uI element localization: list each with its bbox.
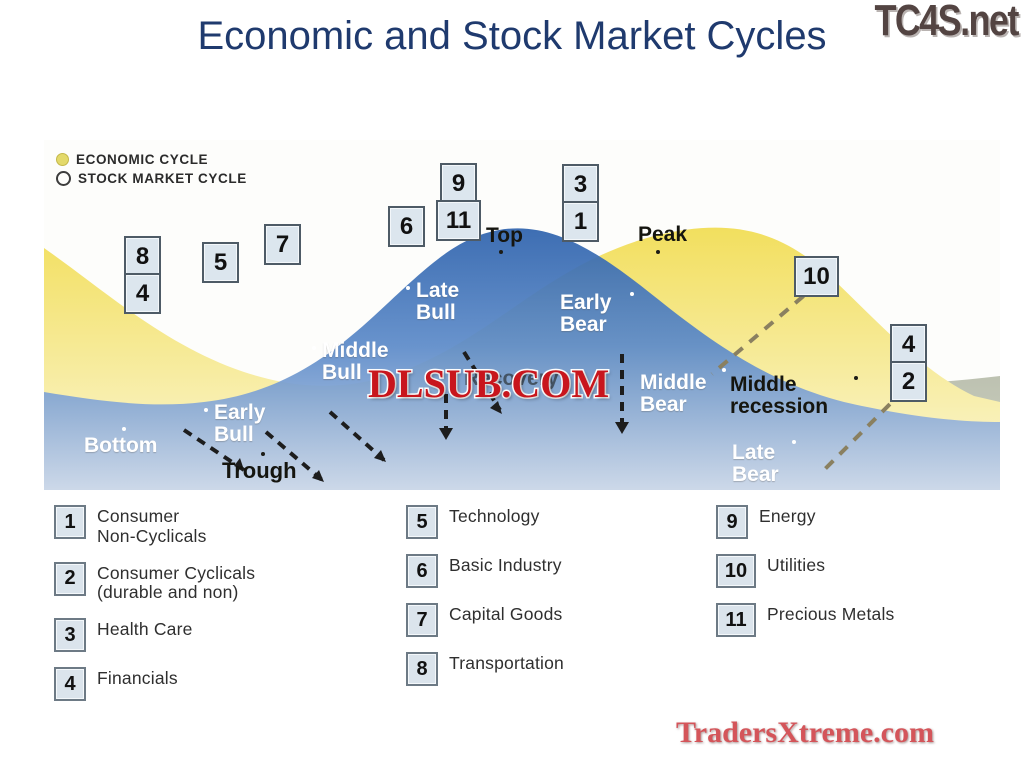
sector-label-1: Consumer Non-Cyclicals [97,505,207,547]
callout-box-2[interactable]: 2 [890,361,927,402]
annotation-early-bull: Early Bull [214,402,265,446]
legend-item-stock-market: STOCK MARKET CYCLE [56,171,247,186]
marker-dot-bottom [122,427,126,431]
sector-key-item-7[interactable]: 7 Capital Goods [406,603,564,637]
marker-dot-late-bull [406,286,410,290]
open-circle-icon [56,171,71,186]
sector-key-item-5[interactable]: 5 Technology [406,505,564,539]
chart-legend: ECONOMIC CYCLE STOCK MARKET CYCLE [56,152,247,190]
callout-box-3[interactable]: 3 [562,164,599,205]
sector-key-item-9[interactable]: 9 Energy [716,505,895,539]
annotation-late-bull: Late Bull [416,280,459,324]
sector-number-8: 8 [406,652,438,686]
sector-label-7: Capital Goods [449,603,563,625]
annotation-late-bear: Late Bear [732,442,779,486]
callout-box-6[interactable]: 6 [388,206,425,247]
callout-box-5[interactable]: 5 [202,242,239,283]
marker-dot-early-bear [630,292,634,296]
annotation-bottom: Bottom [84,435,157,457]
sector-label-5: Technology [449,505,540,527]
annotation-top: Top [486,225,523,247]
sector-number-2: 2 [54,562,86,596]
sector-key-item-11[interactable]: 11 Precious Metals [716,603,895,637]
sector-number-7: 7 [406,603,438,637]
slide-canvas: Economic and Stock Market Cycles TC4S.ne… [0,0,1024,768]
callout-box-10[interactable]: 10 [794,256,839,297]
cycle-chart: ECONOMIC CYCLE STOCK MARKET CYCLE Bottom… [44,140,1000,490]
sector-label-4: Financials [97,667,178,689]
marker-dot-middle-bull [312,346,316,350]
callout-box-7[interactable]: 7 [264,224,301,265]
sector-label-3: Health Care [97,618,193,640]
sector-key-column-2: 5 Technology 6 Basic Industry 7 Capital … [406,505,564,701]
marker-dot-top [499,250,503,254]
sector-key-item-10[interactable]: 10 Utilities [716,554,895,588]
filled-circle-icon [56,153,69,166]
sector-key-item-2[interactable]: 2 Consumer Cyclicals (durable and non) [54,562,255,604]
cycle-chart-svg [44,140,1000,490]
sector-key-item-4[interactable]: 4 Financials [54,667,255,701]
annotation-middle-recession: Middle recession [730,374,828,418]
page-title: Economic and Stock Market Cycles [0,14,1024,59]
sector-number-11: 11 [716,603,756,637]
marker-dot-late-bear [792,440,796,444]
sector-number-3: 3 [54,618,86,652]
sector-label-11: Precious Metals [767,603,895,625]
sector-key: 1 Consumer Non-Cyclicals 2 Consumer Cycl… [44,505,1004,720]
marker-dot-peak [656,250,660,254]
annotation-early-bear: Early Bear [560,292,611,336]
annotation-middle-bear: Middle Bear [640,372,707,416]
annotation-peak: Peak [638,224,687,246]
watermark-dlsub: DLSUB.COM [368,360,609,407]
watermark-tc4s: TC4S.net [875,0,1018,46]
sector-number-4: 4 [54,667,86,701]
sector-key-column-3: 9 Energy 10 Utilities 11 Precious Metals [716,505,895,652]
marker-dot-trough [261,452,265,456]
sector-key-column-1: 1 Consumer Non-Cyclicals 2 Consumer Cycl… [54,505,255,716]
annotation-trough: Trough [222,460,297,483]
callout-box-9[interactable]: 9 [440,163,477,204]
legend-item-economic: ECONOMIC CYCLE [56,152,247,167]
marker-dot-early-bull [204,408,208,412]
sector-label-8: Transportation [449,652,564,674]
sector-key-item-6[interactable]: 6 Basic Industry [406,554,564,588]
callout-box-4b[interactable]: 4 [890,324,927,365]
sector-key-item-8[interactable]: 8 Transportation [406,652,564,686]
callout-box-11[interactable]: 11 [436,200,481,241]
sector-key-item-3[interactable]: 3 Health Care [54,618,255,652]
sector-label-10: Utilities [767,554,825,576]
sector-number-10: 10 [716,554,756,588]
sector-number-1: 1 [54,505,86,539]
legend-label-economic: ECONOMIC CYCLE [76,152,208,167]
legend-label-stock-market: STOCK MARKET CYCLE [78,171,247,186]
sector-label-6: Basic Industry [449,554,562,576]
callout-box-4a[interactable]: 4 [124,273,161,314]
sector-number-9: 9 [716,505,748,539]
watermark-tradersxtreme: TradersXtreme.com [676,716,934,750]
callout-box-1[interactable]: 1 [562,201,599,242]
sector-key-item-1[interactable]: 1 Consumer Non-Cyclicals [54,505,255,547]
marker-dot-middle-bear [722,368,726,372]
marker-dot-middle-recession [854,376,858,380]
sector-number-6: 6 [406,554,438,588]
sector-number-5: 5 [406,505,438,539]
sector-label-9: Energy [759,505,816,527]
sector-label-2: Consumer Cyclicals (durable and non) [97,562,255,604]
callout-box-8[interactable]: 8 [124,236,161,277]
